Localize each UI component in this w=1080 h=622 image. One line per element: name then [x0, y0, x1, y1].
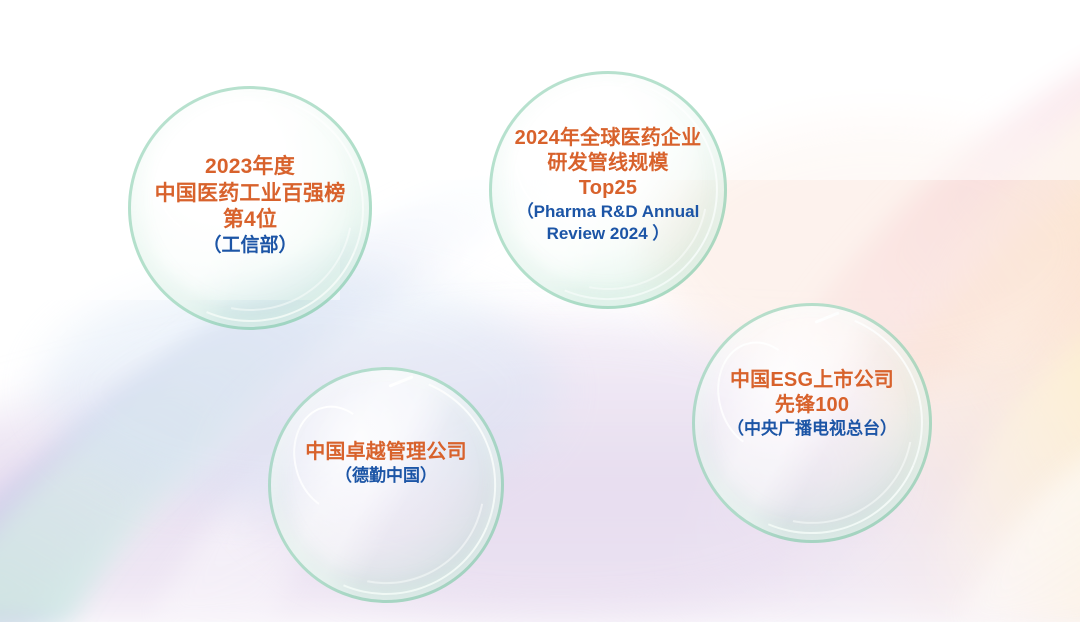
bubble-best-managed: 中国卓越管理公司 （德勤中国） — [268, 367, 504, 603]
bubble-headline-line: 研发管线规模 — [499, 151, 718, 176]
bubble-esg-top100: 中国ESG上市公司 先锋100 （中央广播电视总台） — [692, 303, 932, 543]
bubble-pipeline-top25: 2024年全球医药企业 研发管线规模 Top25 （Pharma R&D Ann… — [489, 71, 727, 309]
bubble-text-block: 2023年度 中国医药工业百强榜 第4位 （工信部） — [138, 154, 363, 257]
bubble-text-block: 中国ESG上市公司 先锋100 （中央广播电视总台） — [702, 368, 923, 440]
bubble-text-block: 2024年全球医药企业 研发管线规模 Top25 （Pharma R&D Ann… — [499, 126, 718, 244]
bubble-headline-line: 中国卓越管理公司 — [277, 440, 494, 465]
bubble-subtitle-source: （中央广播电视总台） — [702, 418, 923, 439]
bubble-headline-line: 2024年全球医药企业 — [499, 126, 718, 151]
bubble-headline-line: 先锋100 — [702, 393, 923, 418]
honor-bubbles-graphic: 2023年度 中国医药工业百强榜 第4位 （工信部） 2024年全球医药企业 研… — [0, 0, 1080, 622]
bubble-headline-line: 第4位 — [138, 207, 363, 233]
bubble-subtitle-source: （工信部） — [138, 234, 363, 258]
bubble-subtitle-source: （Pharma R&D Annual Review 2024 ） — [499, 201, 718, 244]
bubble-headline-line: 中国ESG上市公司 — [702, 368, 923, 393]
bubble-subtitle-source: （德勤中国） — [277, 465, 494, 486]
bubble-industry-top100: 2023年度 中国医药工业百强榜 第4位 （工信部） — [128, 86, 372, 330]
bubble-headline-line: Top25 — [499, 176, 718, 201]
bubble-headline-line: 2023年度 — [138, 154, 363, 180]
bubble-text-block: 中国卓越管理公司 （德勤中国） — [277, 440, 494, 487]
bubble-headline-line: 中国医药工业百强榜 — [138, 181, 363, 207]
